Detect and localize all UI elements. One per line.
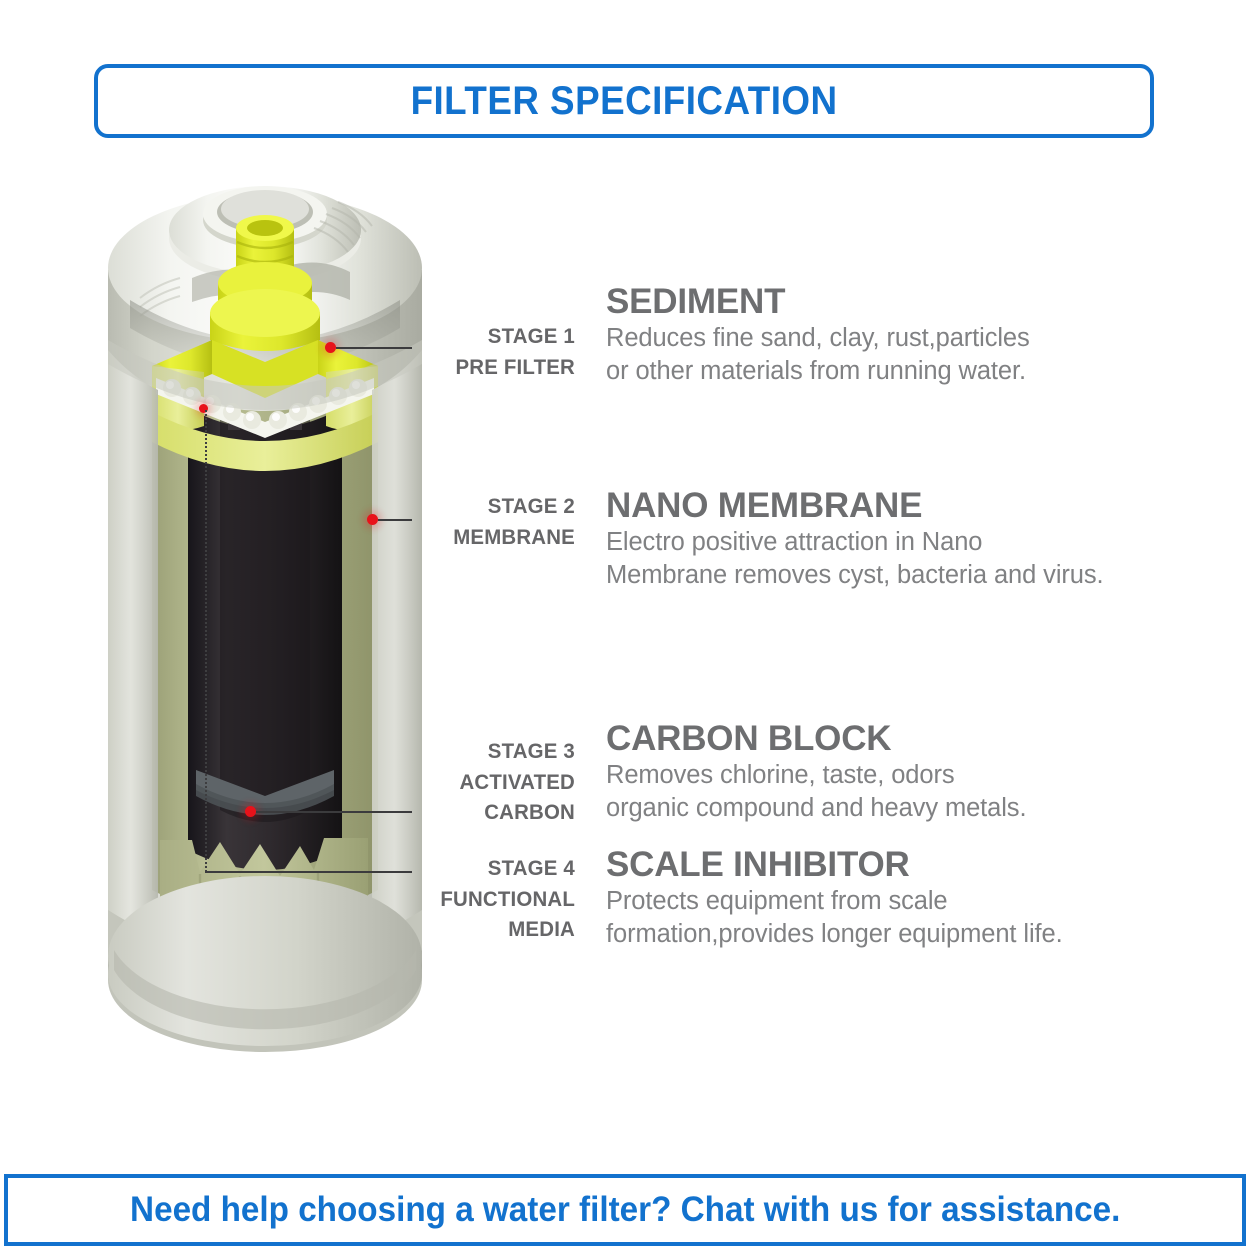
description-sediment: SEDIMENT Reduces fine sand, clay, rust,p… [606, 283, 1030, 387]
leader-line-stage-3 [256, 811, 412, 813]
stage-4-line-1: STAGE 4 [423, 853, 575, 884]
chat-assistance-banner[interactable]: Need help choosing a water filter? Chat … [4, 1174, 1246, 1246]
description-body-carbon-block: Removes chlorine, taste, odors organic c… [606, 759, 1026, 824]
filter-cartridge-illustration [100, 150, 430, 1100]
marker-stage-3 [245, 806, 256, 817]
stage-4-line-3: MEDIA [423, 914, 575, 945]
stage-3-line-3: CARBON [423, 797, 575, 828]
stage-2-line-2: MEMBRANE [423, 522, 575, 553]
leader-line-stage-4 [205, 871, 412, 873]
stage-label-stage-1: STAGE 1 PRE FILTER [423, 321, 575, 382]
stage-label-stage-4: STAGE 4 FUNCTIONAL MEDIA [423, 853, 575, 945]
stage-3-line-2: ACTIVATED [423, 767, 575, 798]
description-body-sediment: Reduces fine sand, clay, rust,particles … [606, 322, 1030, 387]
header-banner: FILTER SPECIFICATION [94, 64, 1154, 138]
marker-stage-1 [325, 342, 336, 353]
description-scale-inhibitor: SCALE INHIBITOR Protects equipment from … [606, 846, 1063, 950]
description-title-nano-membrane: NANO MEMBRANE [606, 487, 1104, 524]
description-nano-membrane: NANO MEMBRANE Electro positive attractio… [606, 487, 1104, 591]
description-body-scale-inhibitor: Protects equipment from scale formation,… [606, 885, 1063, 950]
carbon-block [188, 408, 342, 870]
description-carbon-block: CARBON BLOCK Removes chlorine, taste, od… [606, 720, 1026, 824]
stage-1-line-2: PRE FILTER [423, 352, 575, 383]
stage-label-stage-3: STAGE 3 ACTIVATED CARBON [423, 736, 575, 828]
stage-label-stage-2: STAGE 2 MEMBRANE [423, 491, 575, 552]
leader-line-stage-2 [378, 519, 412, 521]
description-title-sediment: SEDIMENT [606, 283, 1030, 320]
stage-3-line-1: STAGE 3 [423, 736, 575, 767]
marker-stage-2 [367, 514, 378, 525]
stage-2-line-1: STAGE 2 [423, 491, 575, 522]
dotted-guide-stage-4 [205, 410, 207, 872]
leader-line-stage-1 [336, 347, 412, 349]
description-title-carbon-block: CARBON BLOCK [606, 720, 1026, 757]
description-body-nano-membrane: Electro positive attraction in Nano Memb… [606, 526, 1104, 591]
page-title: FILTER SPECIFICATION [411, 79, 838, 124]
chat-assistance-text[interactable]: Need help choosing a water filter? Chat … [130, 1190, 1120, 1230]
stage-1-line-1: STAGE 1 [423, 321, 575, 352]
description-title-scale-inhibitor: SCALE INHIBITOR [606, 846, 1063, 883]
cartridge-base [108, 876, 422, 1036]
stage-4-line-2: FUNCTIONAL [423, 884, 575, 915]
